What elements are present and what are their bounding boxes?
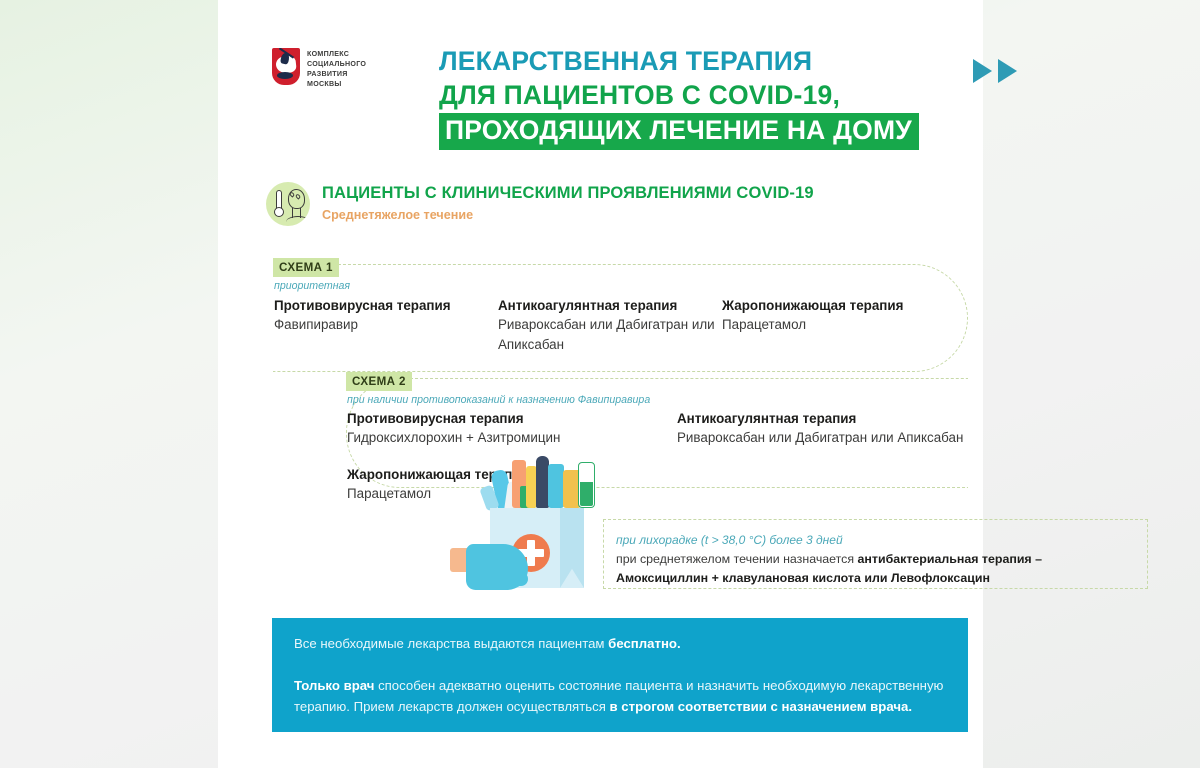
patients-subtitle: Среднетяжелое течение bbox=[322, 208, 814, 222]
therapy-column: Жаропонижающая терапия Парацетамол bbox=[722, 297, 952, 354]
brand-logo-text: КОМПЛЕКС СОЦИАЛЬНОГО РАЗВИТИЯ МОСКВЫ bbox=[307, 48, 366, 89]
medicine-bag-with-gloved-hand-icon bbox=[450, 452, 610, 600]
therapy-items: Парацетамол bbox=[722, 315, 952, 334]
title-line-1: ЛЕКАРСТВЕННАЯ ТЕРАПИЯ bbox=[439, 46, 979, 77]
fever-note-body: при среднетяжелом течении назначается ан… bbox=[616, 550, 1136, 587]
footer-para-bold-1: Только врач bbox=[294, 678, 374, 693]
moscow-coat-of-arms-icon bbox=[272, 48, 300, 85]
therapy-items: Ривароксабан или Дабигатран или Апиксаба… bbox=[498, 315, 722, 354]
therapy-title: Антикоагулянтная терапия bbox=[677, 410, 967, 427]
scheme-1-note: приоритетная bbox=[274, 280, 350, 292]
fever-note-heading: при лихорадке (t > 38,0 °C) более 3 дней bbox=[616, 531, 1136, 549]
patients-title: ПАЦИЕНТЫ С КЛИНИЧЕСКИМИ ПРОЯВЛЕНИЯМИ COV… bbox=[322, 184, 814, 203]
footer-notice: Все необходимые лекарства выдаются пацие… bbox=[272, 618, 968, 732]
fever-body-pre: при среднетяжелом течении назначается bbox=[616, 552, 858, 566]
footer-free-meds-line: Все необходимые лекарства выдаются пацие… bbox=[294, 634, 946, 654]
therapy-items: Гидроксихлорохин + Азитромицин bbox=[347, 428, 677, 447]
patient-fever-thermometer-icon bbox=[266, 182, 310, 226]
poster-header: КОМПЛЕКС СОЦИАЛЬНОГО РАЗВИТИЯ МОСКВЫ ЛЕК… bbox=[272, 46, 972, 166]
scheme-2-note: при наличии противопоказаний к назначени… bbox=[347, 394, 650, 406]
therapy-column: Антикоагулянтная терапия Ривароксабан ил… bbox=[677, 410, 967, 504]
fever-body-bold: антибактериальная терапия – bbox=[858, 552, 1042, 566]
footer-doctor-paragraph: Только врач способен адекватно оценить с… bbox=[294, 675, 946, 718]
page-title: ЛЕКАРСТВЕННАЯ ТЕРАПИЯ ДЛЯ ПАЦИЕНТОВ С CO… bbox=[439, 46, 979, 150]
footer-para-bold-2: в строгом соответствии с назначением вра… bbox=[610, 699, 912, 714]
therapy-items: Ривароксабан или Дабигатран или Апиксаба… bbox=[677, 428, 967, 447]
scheme-2-columns: Противовирусная терапия Гидроксихлорохин… bbox=[347, 410, 967, 504]
fever-note: при лихорадке (t > 38,0 °C) более 3 дней… bbox=[616, 531, 1136, 587]
fever-body-line2: Амоксициллин + клавулановая кислота или … bbox=[616, 571, 990, 585]
therapy-column: Противовирусная терапия Фавипиравир bbox=[274, 297, 498, 354]
therapy-title: Антикоагулянтная терапия bbox=[498, 297, 722, 314]
patients-section-header: ПАЦИЕНТЫ С КЛИНИЧЕСКИМИ ПРОЯВЛЕНИЯМИ COV… bbox=[266, 182, 814, 226]
therapy-title: Жаропонижающая терапия bbox=[722, 297, 952, 314]
title-line-2: ДЛЯ ПАЦИЕНТОВ С COVID-19, bbox=[439, 80, 979, 111]
therapy-title: Противовирусная терапия bbox=[347, 410, 677, 427]
brand-logo: КОМПЛЕКС СОЦИАЛЬНОГО РАЗВИТИЯ МОСКВЫ bbox=[272, 48, 366, 89]
double-play-arrow-icon bbox=[973, 59, 1017, 83]
footer-line1-pre: Все необходимые лекарства выдаются пацие… bbox=[294, 636, 608, 651]
scheme-1-badge: СХЕМА 1 bbox=[273, 258, 339, 277]
scheme-1-columns: Противовирусная терапия Фавипиравир Анти… bbox=[274, 297, 954, 354]
title-line-3: ПРОХОДЯЩИХ ЛЕЧЕНИЕ НА ДОМУ bbox=[439, 113, 919, 150]
scheme-2-badge: СХЕМА 2 bbox=[346, 372, 412, 391]
therapy-items: Фавипиравир bbox=[274, 315, 498, 334]
poster-card: КОМПЛЕКС СОЦИАЛЬНОГО РАЗВИТИЯ МОСКВЫ ЛЕК… bbox=[218, 0, 983, 768]
therapy-column: Антикоагулянтная терапия Ривароксабан ил… bbox=[498, 297, 722, 354]
therapy-title: Противовирусная терапия bbox=[274, 297, 498, 314]
footer-line1-bold: бесплатно. bbox=[608, 636, 680, 651]
